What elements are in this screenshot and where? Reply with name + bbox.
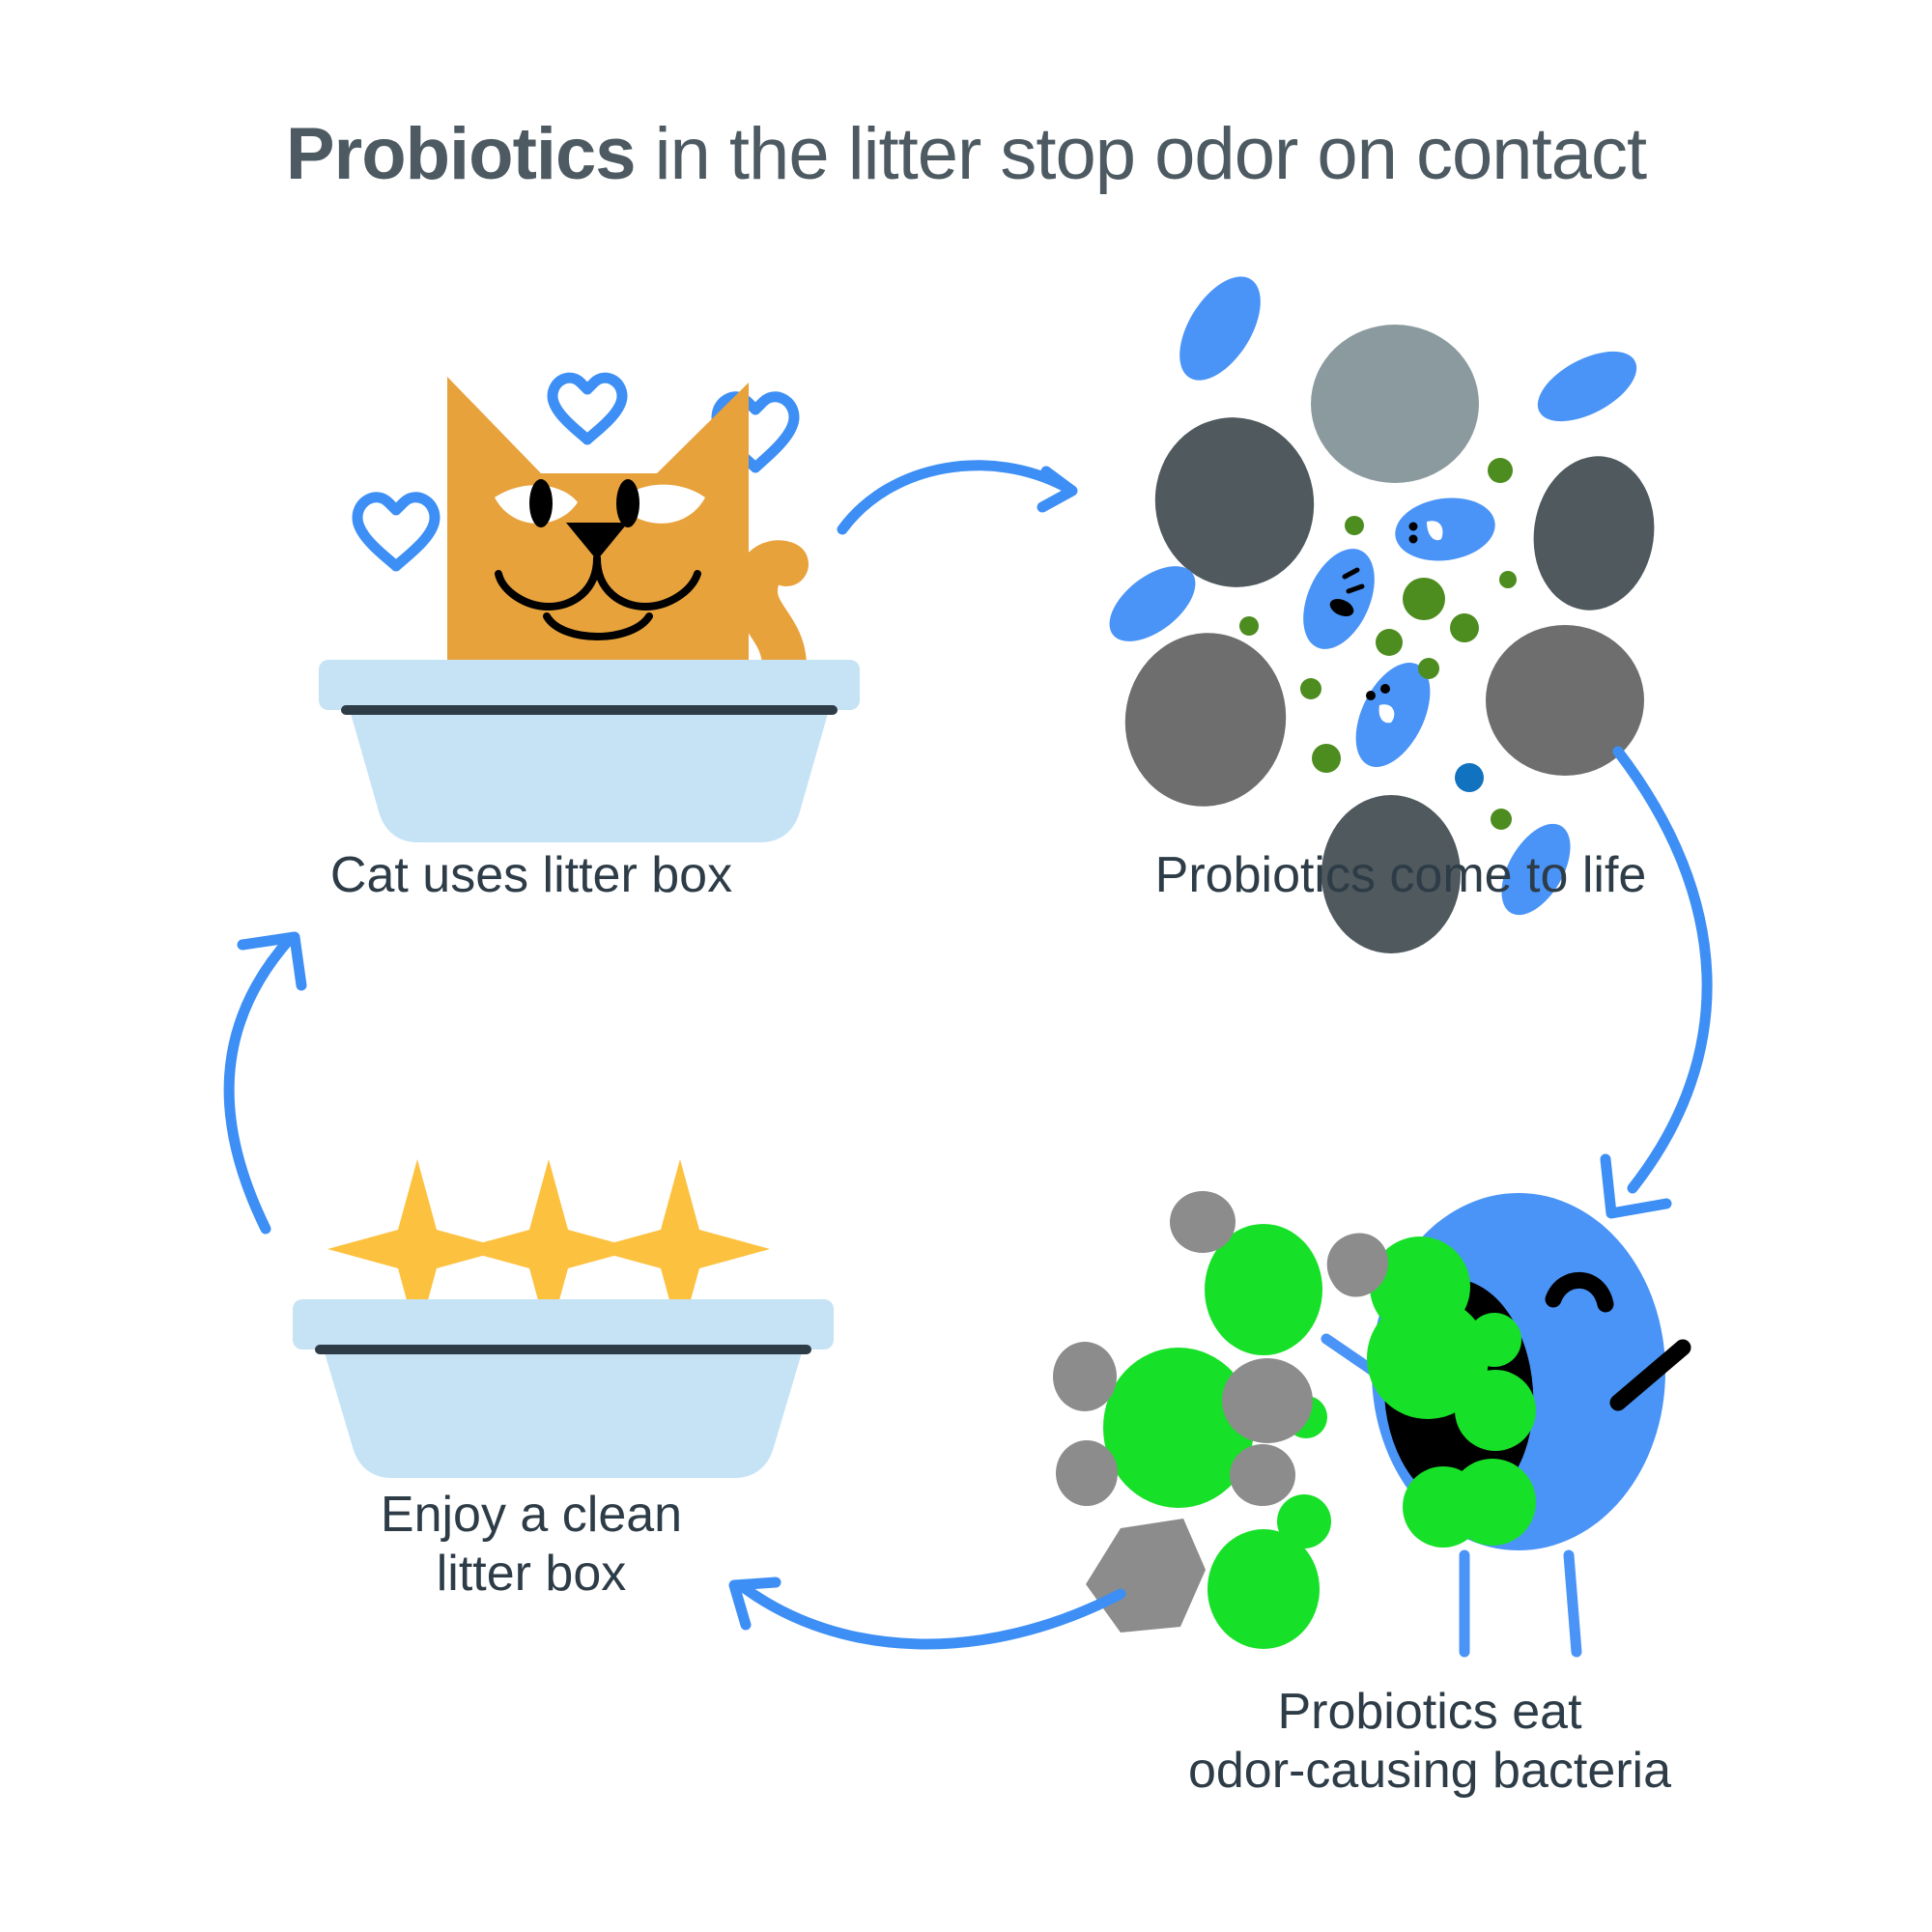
green-spore [1403, 578, 1445, 620]
cat-pupil-right [616, 479, 639, 527]
litter-box-line [341, 705, 838, 715]
caption-cat-uses-litter-box: Cat uses litter box [145, 846, 918, 905]
litter-granule [1056, 1440, 1118, 1506]
green-spore [1239, 616, 1259, 636]
step-enjoy-clean-litter-box [293, 1159, 834, 1478]
green-spore [1345, 516, 1364, 535]
infographic-canvas [0, 0, 1932, 1932]
probiotic-leg-right [1569, 1555, 1577, 1652]
step-cat-uses-litter-box [319, 377, 860, 842]
caption-enjoy-clean-litter-box: Enjoy a clean litter box [184, 1486, 879, 1605]
green-spore [1450, 613, 1479, 642]
bacteria-dot [1207, 1529, 1320, 1649]
heart-icon-top [553, 378, 622, 440]
green-spore [1491, 809, 1512, 830]
green-spore [1418, 658, 1439, 679]
probiotic-microbe-face-sleepy [1289, 538, 1388, 661]
clean-litter-box-body [324, 1350, 803, 1478]
green-spore [1376, 629, 1403, 656]
green-spore [1300, 678, 1321, 699]
caption-probiotics-eat-bacteria: Probiotics eat odor-causing bacteria [1043, 1683, 1816, 1802]
litter-granule [1230, 1444, 1295, 1506]
probiotic-microbe [1163, 263, 1277, 394]
bacteria-dot [1455, 1370, 1536, 1451]
microbe-eye [1409, 535, 1418, 544]
arrow-cat-to-probiotics [842, 466, 1072, 529]
green-spore [1499, 571, 1517, 588]
clean-litter-box-line [315, 1345, 811, 1354]
microbe-eye [1366, 691, 1376, 700]
arrow-clean-to-cat [229, 937, 301, 1229]
microbe-eye [1380, 684, 1390, 694]
arrow-probiotics-to-eating [1605, 752, 1707, 1213]
green-spore [1312, 744, 1341, 773]
cat-pupil-left [529, 479, 553, 527]
litter-granule [1523, 448, 1663, 618]
litter-granule [1053, 1342, 1117, 1411]
step-probiotics-eat-bacteria [1053, 1191, 1683, 1652]
probiotic-microbe-face-yawning [1391, 492, 1499, 567]
litter-box-body [350, 710, 829, 842]
litter-granule [1112, 620, 1300, 819]
green-spore-blue [1455, 763, 1484, 792]
green-spore [1488, 458, 1513, 483]
caption-probiotics-come-to-life: Probiotics come to life [966, 846, 1835, 905]
litter-granule [1311, 325, 1479, 483]
litter-granule [1086, 1519, 1206, 1633]
microbe-eye [1409, 523, 1418, 531]
heart-icon-left [357, 497, 435, 566]
litter-granule [1222, 1358, 1313, 1443]
infographic-root: Probiotics in the litter stop odor on co… [0, 0, 1932, 1932]
litter-box-rim-top [319, 660, 860, 710]
bacteria-dot [1403, 1466, 1484, 1548]
litter-granule [1170, 1191, 1236, 1253]
probiotic-microbe [1526, 337, 1647, 436]
clean-litter-box-rim-top [293, 1299, 834, 1350]
bacteria-dot [1480, 1478, 1499, 1497]
bacteria-dot [1467, 1313, 1521, 1367]
